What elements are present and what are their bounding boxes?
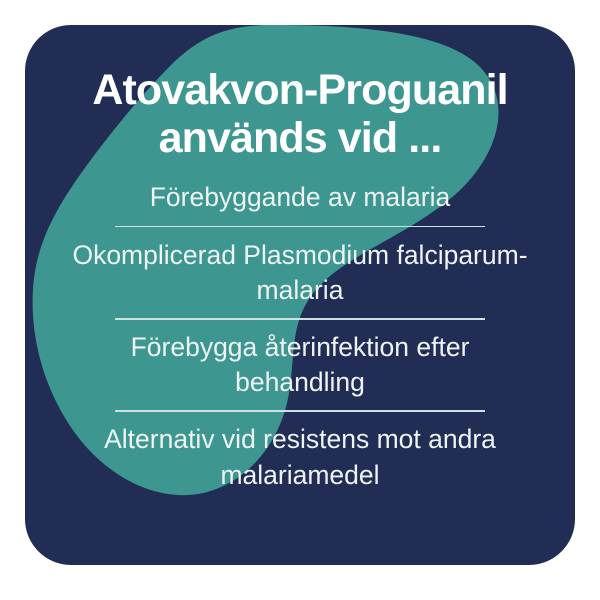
page-title: Atovakvon-Proguanil används vid ... xyxy=(25,66,575,162)
list-item: Alternativ vid resistens mot andra malar… xyxy=(25,422,575,492)
info-card: Atovakvon-Proguanil används vid ... Före… xyxy=(25,25,575,565)
page-title-line-1: Atovakvon-Proguanil xyxy=(33,66,567,114)
card-content: Atovakvon-Proguanil används vid ... Före… xyxy=(25,25,575,565)
list-item: Förebyggande av malaria xyxy=(25,180,575,215)
list-item: Förebygga återinfektion efter behandling xyxy=(25,330,575,400)
page-title-line-2: används vid ... xyxy=(33,114,567,162)
infographic-card-canvas: Atovakvon-Proguanil används vid ... Före… xyxy=(0,0,600,600)
indication-list: Förebyggande av malaria Okomplicerad Pla… xyxy=(25,180,575,493)
list-item: Okomplicerad Plasmodium falciparum-malar… xyxy=(25,238,575,308)
